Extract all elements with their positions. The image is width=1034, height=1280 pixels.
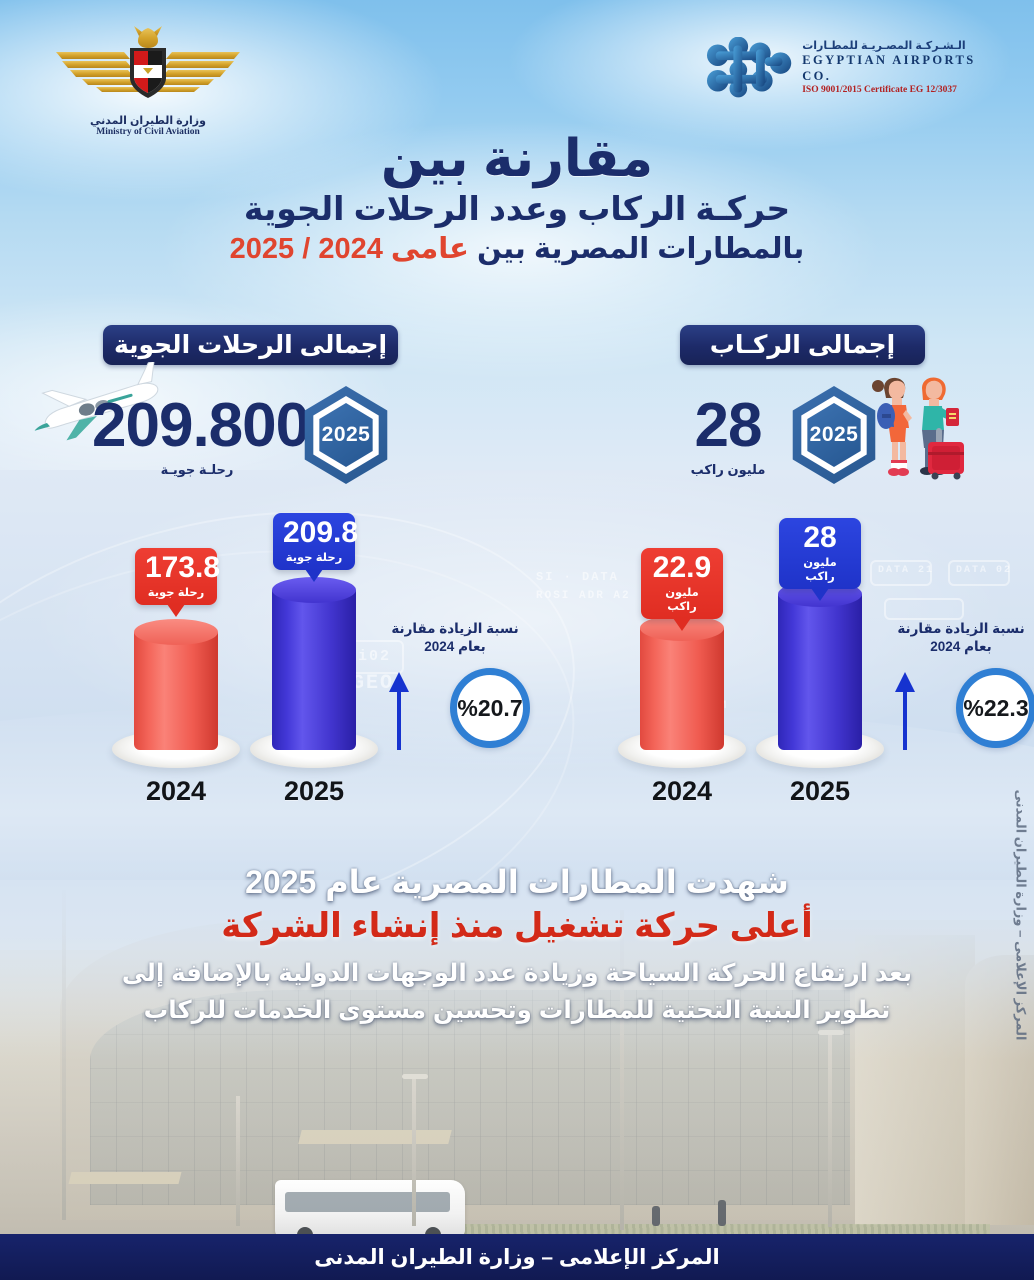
watermark-text: DATA 02 xyxy=(956,565,1012,576)
callout-tip xyxy=(305,569,323,582)
callout-value: 209.8 xyxy=(283,518,345,548)
footer-credit: المركز الإعلامى – وزارة الطيران المدنى xyxy=(314,1245,719,1270)
callout-unit: مليون راكب xyxy=(789,555,851,583)
up-arrow-icon xyxy=(394,672,404,750)
airports-name-ar: الـشـركـة المصـريـة للمطـارات xyxy=(802,40,1006,54)
summary-text: شهدت المطارات المصرية عام 2025 أعلى حركة… xyxy=(0,862,1034,1029)
bar-label-flights-2024: 2024 xyxy=(106,776,246,807)
watermark-text: ROSI ADR A2 xyxy=(536,590,631,602)
airports-iso-cert: ISO 9001/2015 Certificate EG 12/3037 xyxy=(802,85,1006,97)
callout-unit: رحلة جوية xyxy=(283,550,345,564)
watermark-box xyxy=(884,598,964,620)
growth-passengers: نسبة الزيادة مقارنة بعام 2024 %22.3 xyxy=(886,620,1034,752)
ministry-logo: وزارة الطيران المدني Ministry of Civil A… xyxy=(38,22,258,142)
travellers-icon xyxy=(862,372,978,480)
kpi-passengers-value: 28 xyxy=(648,395,808,457)
callout-tip xyxy=(811,588,829,601)
bar-flights-2025 xyxy=(272,590,356,750)
growth-flights-row: %20.7 xyxy=(380,664,530,752)
arrow-stem xyxy=(903,688,907,750)
growth-flights-badge: %20.7 xyxy=(450,668,530,748)
growth-flights-label: نسبة الزيادة مقارنة بعام 2024 xyxy=(380,620,530,656)
bar-label-passengers-2025: 2025 xyxy=(750,776,890,807)
callout-value: 173.8 xyxy=(145,553,207,583)
footer-bar: المركز الإعلامى – وزارة الطيران المدنى xyxy=(0,1234,1034,1280)
kpi-flights: 209.800 رحلـة جويـة xyxy=(92,395,302,478)
summary-line-3: بعد ارتفاع الحركة السياحة وزيادة عدد الو… xyxy=(0,956,1034,993)
title-line-3-highlight: عامى 2024 / 2025 xyxy=(230,233,469,265)
kpi-flights-unit: رحلـة جويـة xyxy=(92,462,302,478)
up-arrow-icon xyxy=(900,672,910,750)
bar-body xyxy=(134,632,218,750)
bar-body xyxy=(640,628,724,750)
bar-passengers-2025 xyxy=(778,594,862,750)
callout-unit: رحلة جوية xyxy=(145,585,207,599)
watermark-text: SI · DATA xyxy=(536,570,619,584)
bar-label-passengers-2024: 2024 xyxy=(612,776,752,807)
arrow-stem xyxy=(397,688,401,750)
bar-top-ellipse xyxy=(134,619,218,645)
bar-body xyxy=(778,594,862,750)
title-line-2: حركـة الركاب وعدد الرحلات الجوية xyxy=(0,188,1034,229)
callout-tip xyxy=(167,604,185,617)
title-line-3: بالمطارات المصرية بين عامى 2024 / 2025 xyxy=(0,231,1034,267)
ministry-name-ar: وزارة الطيران المدني xyxy=(38,114,258,127)
summary-line-4: تطوير البنية التحتية للمطارات وتحسين مست… xyxy=(0,993,1034,1030)
growth-flights: نسبة الزيادة مقارنة بعام 2024 %20.7 xyxy=(380,620,530,752)
egyptian-airports-logo: الـشـركـة المصـريـة للمطـارات EGYPTIAN A… xyxy=(706,30,1006,106)
kpi-passengers-unit: مليون راكب xyxy=(648,462,808,478)
title-line-1: مقارنة بين xyxy=(0,132,1034,186)
bar-flights-2024 xyxy=(134,632,218,750)
infographic-page: i02 GEO SI · DATA ROSI ADR A2 DATA 21 DA… xyxy=(0,0,1034,1280)
growth-passengers-value: %22.3 xyxy=(963,695,1028,722)
callout-value: 22.9 xyxy=(651,553,713,583)
callout-passengers-2024: 22.9 مليون راكب xyxy=(641,548,723,619)
growth-passengers-row: %22.3 xyxy=(886,664,1034,752)
callout-flights-2025: 209.8 رحلة جوية xyxy=(273,513,355,570)
main-title: مقارنة بين حركـة الركاب وعدد الرحلات الج… xyxy=(0,132,1034,268)
airports-molecule-icon xyxy=(706,37,792,99)
ministry-wings-icon xyxy=(38,22,258,108)
airports-name-en: EGYPTIAN AIRPORTS CO. xyxy=(802,53,1006,84)
bar-body xyxy=(272,590,356,750)
year-badge-flights: 2025 xyxy=(298,386,394,484)
side-credit: المركز الإعلامى – وزارة الطيران المدنى xyxy=(1008,800,1032,1030)
summary-line-2: أعلى حركة تشغيل منذ إنشاء الشركة xyxy=(0,904,1034,948)
bar-label-flights-2025: 2025 xyxy=(244,776,384,807)
section-header-flights: إجمالى الرحلات الجوية xyxy=(103,325,398,365)
side-credit-text: المركز الإعلامى – وزارة الطيران المدنى xyxy=(1012,790,1028,1041)
watermark-text: DATA 21 xyxy=(878,565,934,576)
title-line-3-prefix: بالمطارات المصرية بين xyxy=(469,233,804,265)
growth-passengers-label: نسبة الزيادة مقارنة بعام 2024 xyxy=(886,620,1034,656)
bar-passengers-2024 xyxy=(640,628,724,750)
kpi-passengers: 28 مليون راكب xyxy=(648,395,808,478)
callout-tip xyxy=(673,618,691,631)
year-badge-flights-label: 2025 xyxy=(298,386,394,484)
summary-line-1: شهدت المطارات المصرية عام 2025 xyxy=(0,862,1034,904)
growth-flights-value: %20.7 xyxy=(457,695,522,722)
callout-passengers-2025: 28 مليون راكب xyxy=(779,518,861,589)
section-header-passengers: إجمالى الركـاب xyxy=(680,325,925,365)
growth-passengers-badge: %22.3 xyxy=(956,668,1034,748)
kpi-flights-value: 209.800 xyxy=(92,395,302,457)
callout-unit: مليون راكب xyxy=(651,585,713,613)
callout-flights-2024: 173.8 رحلة جوية xyxy=(135,548,217,605)
callout-value: 28 xyxy=(789,523,851,553)
